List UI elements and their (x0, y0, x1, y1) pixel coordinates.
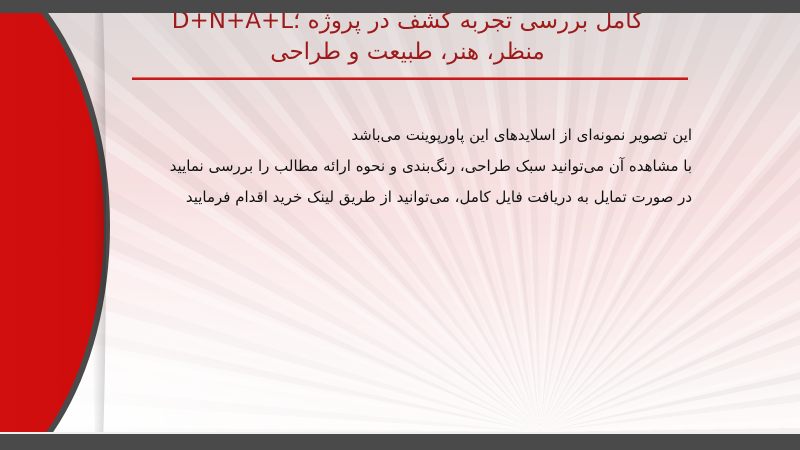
frame-band-bottom (0, 432, 800, 450)
body-line-2: با مشاهده آن می‌توانید سبک طراحی، رنگ‌بن… (122, 151, 692, 182)
title-line-2: منظر، هنر، طبیعت و طراحی (120, 37, 695, 68)
background-curved-bands (0, 12, 800, 432)
presentation-slide: کامل بررسی تجربه کشف در پروژه ؛L+A+N+D م… (0, 0, 800, 450)
background-sheen (0, 12, 800, 432)
slide-title: کامل بررسی تجربه کشف در پروژه ؛L+A+N+D م… (120, 6, 695, 68)
title-divider-rule (132, 77, 688, 80)
red-circle-accent-shape (0, 0, 110, 450)
slide-background-panel (0, 12, 800, 432)
frame-band-top (0, 0, 800, 13)
body-line-3: در صورت تمایل به دریافت فایل کامل، می‌تو… (122, 182, 692, 213)
body-line-1: این تصویر نمونه‌ای از اسلایدهای این پاور… (122, 120, 692, 151)
slide-body-text: این تصویر نمونه‌ای از اسلایدهای این پاور… (122, 120, 692, 213)
